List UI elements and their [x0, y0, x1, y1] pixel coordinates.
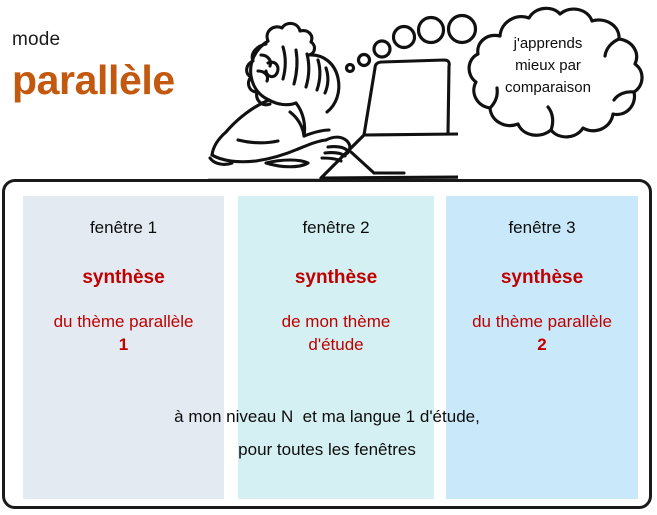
window-column-3-content: fenêtre 3 synthèse du thème parallèle 2	[446, 196, 638, 356]
window-column-1-content: fenêtre 1 synthèse du thème parallèle 1	[23, 196, 224, 356]
windows-columns: fenêtre 1 synthèse du thème parallèle 1 …	[5, 182, 649, 506]
window-column-2[interactable]: fenêtre 2 synthèse de mon thème d'étude	[238, 196, 434, 499]
window-desc-3: du thème parallèle 2	[446, 311, 638, 356]
parallel-mode-panel: fenêtre 1 synthèse du thème parallèle 1 …	[2, 179, 652, 509]
thought-line-2: mieux par	[468, 55, 628, 77]
thought-line-3: comparaison	[468, 77, 628, 99]
window-label-1: fenêtre 1	[23, 218, 224, 238]
synthese-label-1: synthèse	[23, 267, 224, 290]
window-desc-2: de mon thème d'étude	[238, 311, 434, 356]
thought-line-1: j'apprends	[468, 33, 628, 55]
synthese-label-3: synthèse	[446, 267, 638, 290]
window-column-1[interactable]: fenêtre 1 synthèse du thème parallèle 1	[23, 196, 224, 499]
window-desc-1-line2: 1	[119, 335, 128, 354]
window-desc-3-line2: 2	[537, 335, 546, 354]
window-label-2: fenêtre 2	[238, 218, 434, 238]
window-desc-2-line1: de mon thème	[282, 312, 391, 331]
synthese-label-2: synthèse	[238, 267, 434, 290]
window-label-3: fenêtre 3	[446, 218, 638, 238]
window-desc-2-line2: d'étude	[308, 335, 363, 354]
thought-bubble-text: j'apprends mieux par comparaison	[468, 33, 628, 98]
window-desc-1-line1: du thème parallèle	[54, 312, 194, 331]
window-desc-3-line1: du thème parallèle	[472, 312, 612, 331]
window-column-2-content: fenêtre 2 synthèse de mon thème d'étude	[238, 196, 434, 356]
window-desc-1: du thème parallèle 1	[23, 311, 224, 356]
slide-canvas: mode parallèle	[0, 0, 657, 515]
window-column-3[interactable]: fenêtre 3 synthèse du thème parallèle 2	[446, 196, 638, 499]
